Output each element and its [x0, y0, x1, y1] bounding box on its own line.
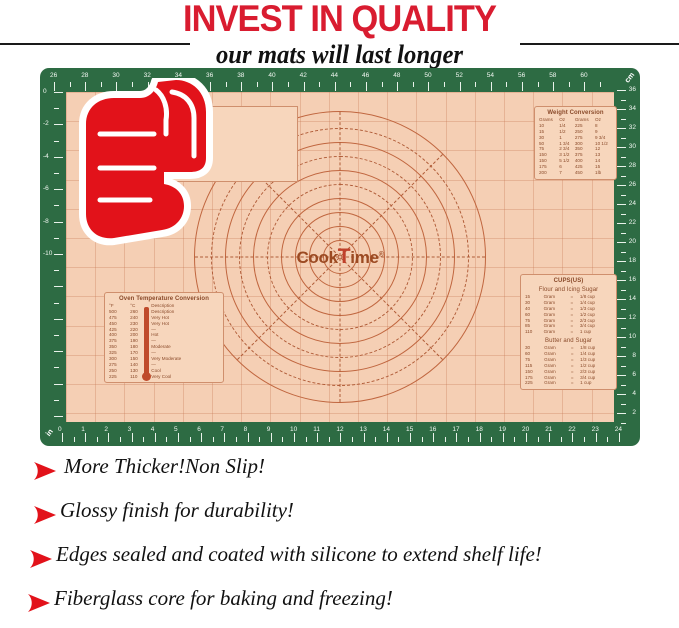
- brand-logo-text-a: Cook: [296, 248, 337, 267]
- cups-us-flour-grid: 15Gram=1/8 cup30Gram=1/4 cup40Gram=1/3 c…: [524, 294, 613, 335]
- table-cell: 225: [108, 374, 129, 380]
- arrow-right-icon: [32, 461, 58, 481]
- thermometer-bulb-icon: [142, 372, 151, 381]
- weight-conversion-title: Weight Conversion: [538, 108, 613, 117]
- list-item: Glossy finish for durability!: [0, 496, 679, 540]
- table-cell: =: [570, 380, 579, 386]
- weight-conversion-grid: GramsOzGramsOz101/42258151/225093012759 …: [538, 117, 613, 176]
- registered-mark: ®: [379, 251, 384, 258]
- arrow-right-icon: [26, 593, 52, 613]
- thermometer-icon: [144, 307, 149, 375]
- brand-logo: CookTime®: [296, 245, 383, 269]
- oven-temperature-grid: °F°CDescription500260Description475240Ve…: [108, 303, 220, 379]
- page-subtitle: our mats will last longer: [17, 40, 662, 70]
- product-image-mat: 262830323436384042444648505254565860 012…: [40, 68, 640, 446]
- table-row: 20074501lb: [538, 170, 613, 176]
- arrow-right-icon: [32, 505, 58, 525]
- cups-us-section1-title: Flour and Icing Sugar: [524, 285, 613, 294]
- cups-us-title: CUPS(US): [524, 276, 613, 285]
- table-cell: 1lb: [594, 170, 613, 176]
- list-item: Edges sealed and coated with silicone to…: [0, 540, 679, 584]
- table-cell: 200: [538, 170, 558, 176]
- ruler-bottom-inches: 0123456789101112131415161718192021222324: [40, 422, 640, 446]
- brand-logo-text-b: T: [338, 245, 351, 268]
- brand-logo-text-c: ime: [350, 248, 378, 267]
- list-item: Fiberglass core for baking and freezing!: [0, 584, 679, 628]
- thumbs-up-icon: [78, 78, 233, 263]
- header-banner: INVEST IN QUALITY our mats will last lon…: [0, 0, 679, 68]
- table-cell: 450: [574, 170, 594, 176]
- page-title: INVEST IN QUALITY: [24, 0, 655, 40]
- cups-us-section2-title: Butter and Sugar: [524, 335, 613, 345]
- oven-temperature-title: Oven Temperature Conversion: [108, 294, 220, 303]
- feature-bullet-list: More Thicker!Non Slip! Glossy finish for…: [0, 452, 679, 628]
- table-cell: 1 cup: [579, 380, 613, 386]
- weight-conversion-table: Weight Conversion GramsOzGramsOz101/4225…: [534, 106, 617, 180]
- ruler-right-cm: 36343230282624222018161412108642: [614, 68, 640, 446]
- cups-us-butter-grid: 30Gram=1/8 cup60Gram=1/4 cup75Gram=1/3 c…: [524, 345, 613, 386]
- arrow-right-icon: [28, 549, 54, 569]
- table-cell: 7: [558, 170, 574, 176]
- bullet-text: Edges sealed and coated with silicone to…: [56, 542, 542, 567]
- cups-us-table: CUPS(US) Flour and Icing Sugar 15Gram=1/…: [520, 274, 617, 390]
- bullet-text: More Thicker!Non Slip!: [64, 454, 265, 479]
- oven-temperature-table: Oven Temperature Conversion °F°CDescript…: [104, 292, 224, 383]
- list-item: More Thicker!Non Slip!: [0, 452, 679, 496]
- table-row: 225Gram=1 cup: [524, 380, 613, 386]
- table-row: 225110Very Cool: [108, 374, 220, 380]
- table-cell: Gram: [543, 380, 570, 386]
- bullet-text: Fiberglass core for baking and freezing!: [54, 586, 393, 611]
- table-cell: Very Cool: [150, 374, 220, 380]
- bullet-text: Glossy finish for durability!: [60, 498, 294, 523]
- ruler-left-inches: 0-2-4-6-8-10: [40, 68, 66, 446]
- table-cell: 225: [524, 380, 543, 386]
